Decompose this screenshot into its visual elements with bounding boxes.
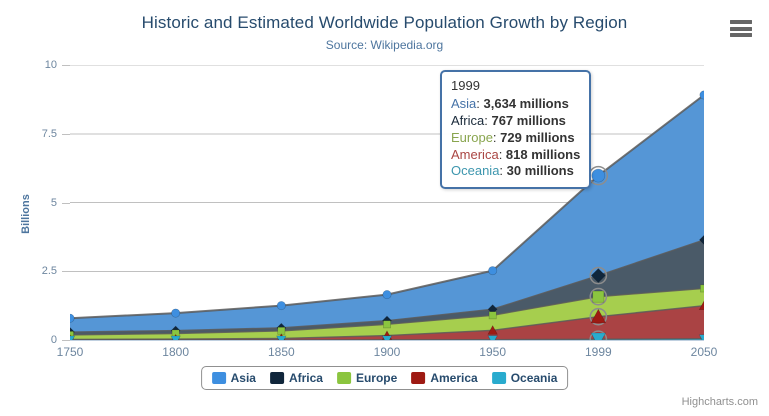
tooltip-row-africa: Africa: 767 millions xyxy=(451,113,580,130)
data-point-europe-2050[interactable] xyxy=(700,285,704,292)
legend-swatch-america xyxy=(411,372,425,384)
legend-label: Europe xyxy=(356,371,397,385)
y-axis-label: 10 xyxy=(0,59,57,71)
y-axis-tick xyxy=(62,340,70,341)
series-areas xyxy=(70,95,704,340)
hamburger-bar-2 xyxy=(730,27,752,31)
tooltip-separator: : xyxy=(499,147,506,162)
tooltip-separator: : xyxy=(499,163,506,178)
y-axis-label: 5 xyxy=(0,197,57,209)
data-point-asia-1999[interactable] xyxy=(592,169,605,182)
x-axis-label: 1900 xyxy=(374,345,401,359)
data-point-europe-1999[interactable] xyxy=(593,291,604,302)
data-point-europe-1950[interactable] xyxy=(489,312,496,319)
legend-label: Asia xyxy=(231,371,256,385)
y-axis-label: 2.5 xyxy=(0,265,57,277)
tooltip-separator: : xyxy=(476,96,483,111)
tooltip-row-america: America: 818 millions xyxy=(451,147,580,164)
legend-item-oceania[interactable]: Oceania xyxy=(492,371,558,385)
legend-item-europe[interactable]: Europe xyxy=(337,371,397,385)
tooltip-series-value: 30 millions xyxy=(507,163,574,178)
data-point-asia-1850[interactable] xyxy=(277,301,285,309)
hamburger-menu-icon[interactable] xyxy=(730,18,752,39)
legend-item-africa[interactable]: Africa xyxy=(270,371,323,385)
legend[interactable]: AsiaAfricaEuropeAmericaOceania xyxy=(201,366,569,390)
x-axis-line xyxy=(70,340,704,341)
y-axis-label: 7.5 xyxy=(0,128,57,140)
data-point-asia-1800[interactable] xyxy=(171,309,179,317)
chart-title: Historic and Estimated Worldwide Populat… xyxy=(0,13,769,33)
legend-label: Oceania xyxy=(511,371,558,385)
credits-link[interactable]: Highcharts.com xyxy=(682,396,758,408)
tooltip-series-name: Oceania xyxy=(451,163,499,178)
hamburger-bar-3 xyxy=(730,33,752,37)
x-axis-label: 1800 xyxy=(162,345,189,359)
tooltip-rows: Asia: 3,634 millionsAfrica: 767 millions… xyxy=(451,96,580,180)
tooltip-row-europe: Europe: 729 millions xyxy=(451,130,580,147)
x-axis-label: 1950 xyxy=(479,345,506,359)
legend-swatch-oceania xyxy=(492,372,506,384)
y-axis-tick xyxy=(62,134,70,135)
legend-swatch-europe xyxy=(337,372,351,384)
x-axis-label: 1999 xyxy=(585,345,612,359)
legend-swatch-africa xyxy=(270,372,284,384)
data-point-europe-1900[interactable] xyxy=(383,321,390,328)
y-axis-tick xyxy=(62,65,70,66)
tooltip-series-value: 729 millions xyxy=(500,130,574,145)
legend-item-america[interactable]: America xyxy=(411,371,477,385)
series-canvas xyxy=(70,65,704,340)
legend-item-asia[interactable]: Asia xyxy=(212,371,256,385)
x-axis-label: 2050 xyxy=(691,345,718,359)
data-point-asia-1900[interactable] xyxy=(383,290,391,298)
chart-subtitle: Source: Wikipedia.org xyxy=(0,38,769,52)
plot-area xyxy=(70,65,704,340)
tooltip-series-name: America xyxy=(451,147,499,162)
legend-label: America xyxy=(430,371,477,385)
tooltip-series-name: Europe xyxy=(451,130,493,145)
tooltip-series-value: 3,634 millions xyxy=(484,96,569,111)
highcharts-container: Historic and Estimated Worldwide Populat… xyxy=(0,0,769,416)
y-axis-tick xyxy=(62,203,70,204)
y-axis-title: Billions xyxy=(20,174,32,254)
tooltip-series-name: Asia xyxy=(451,96,476,111)
tooltip-row-oceania: Oceania: 30 millions xyxy=(451,163,580,180)
tooltip-header: 1999 xyxy=(451,78,580,96)
tooltip: 1999 Asia: 3,634 millionsAfrica: 767 mil… xyxy=(440,70,591,189)
legend-swatch-asia xyxy=(212,372,226,384)
legend-label: Africa xyxy=(289,371,323,385)
tooltip-series-value: 818 millions xyxy=(506,147,580,162)
hamburger-bar-1 xyxy=(730,20,752,24)
tooltip-row-asia: Asia: 3,634 millions xyxy=(451,96,580,113)
tooltip-series-value: 767 millions xyxy=(491,113,565,128)
y-axis-label: 0 xyxy=(0,334,57,346)
y-axis-tick xyxy=(62,271,70,272)
tooltip-series-name: Africa xyxy=(451,113,484,128)
x-axis-label: 1850 xyxy=(268,345,295,359)
x-axis-label: 1750 xyxy=(57,345,84,359)
data-point-asia-1950[interactable] xyxy=(488,266,496,274)
